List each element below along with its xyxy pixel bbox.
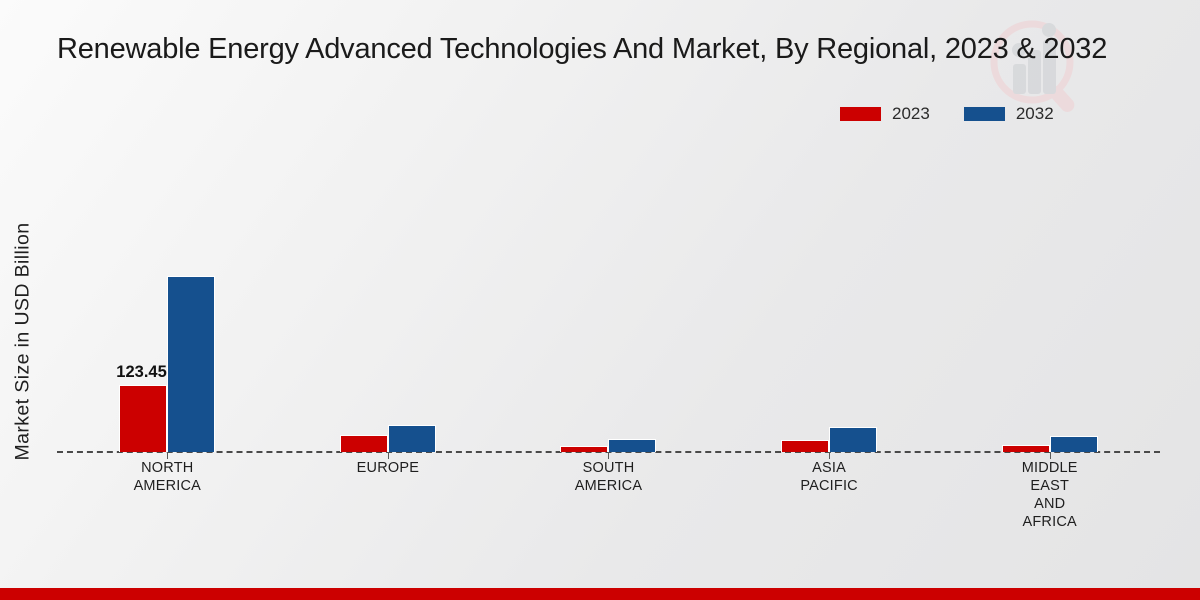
category-label-line: PACIFIC [754,477,904,495]
bar-2023[interactable] [1002,445,1050,452]
legend-swatch-2032 [964,107,1005,121]
bar-2023[interactable] [560,446,608,452]
category-label-line: EAST [975,477,1125,495]
chart-title: Renewable Energy Advanced Technologies A… [57,33,1200,66]
watermark-logo [980,14,1090,118]
y-axis-title: Market Size in USD Billion [12,172,35,512]
bar-2023[interactable] [340,435,388,452]
bar-2032[interactable] [388,425,436,452]
x-axis-tick [388,452,389,459]
x-axis-category-label: NORTHAMERICA [92,459,242,495]
bar-pair [278,150,499,452]
x-axis-category-label: SOUTHAMERICA [533,459,683,495]
category-label-line: AMERICA [533,477,683,495]
bar-pair: 123.45 [57,150,278,452]
bar-2032[interactable] [829,427,877,452]
bar-group: EUROPE [278,150,499,452]
legend-swatch-2023 [840,107,881,121]
bar-2032[interactable] [167,276,215,452]
bar-2023[interactable]: 123.45 [119,385,167,452]
bar-2023[interactable] [781,440,829,452]
legend-label-2023: 2023 [892,104,930,124]
category-label-line: MIDDLE [975,459,1125,477]
category-label-line: ASIA [754,459,904,477]
category-label-line: EUROPE [313,459,463,477]
legend-item-2023[interactable]: 2023 [840,104,930,124]
category-label-line: AND [975,495,1125,513]
x-axis-category-label: MIDDLEEASTANDAFRICA [975,459,1125,531]
bar-pair [719,150,940,452]
plot-area: 123.45NORTHAMERICAEUROPESOUTHAMERICAASIA… [57,150,1160,452]
bar-2032[interactable] [1050,436,1098,452]
x-axis-tick [608,452,609,459]
x-axis-tick [1050,452,1051,459]
legend-item-2032[interactable]: 2032 [964,104,1054,124]
bar-group: SOUTHAMERICA [498,150,719,452]
x-axis-category-label: EUROPE [313,459,463,477]
bar-pair [939,150,1160,452]
bar-pair [498,150,719,452]
category-label-line: AFRICA [975,513,1125,531]
footer-band [0,588,1200,600]
bar-2032[interactable] [608,439,656,452]
category-label-line: SOUTH [533,459,683,477]
legend-label-2032: 2032 [1016,104,1054,124]
x-axis-tick [167,452,168,459]
x-axis-category-label: ASIAPACIFIC [754,459,904,495]
chart-page: Renewable Energy Advanced Technologies A… [0,0,1200,600]
bar-group: MIDDLEEASTANDAFRICA [939,150,1160,452]
category-label-line: AMERICA [92,477,242,495]
bar-group: 123.45NORTHAMERICA [57,150,278,452]
category-label-line: NORTH [92,459,242,477]
bar-group: ASIAPACIFIC [719,150,940,452]
chart-legend: 2023 2032 [840,104,1054,124]
x-axis-tick [829,452,830,459]
